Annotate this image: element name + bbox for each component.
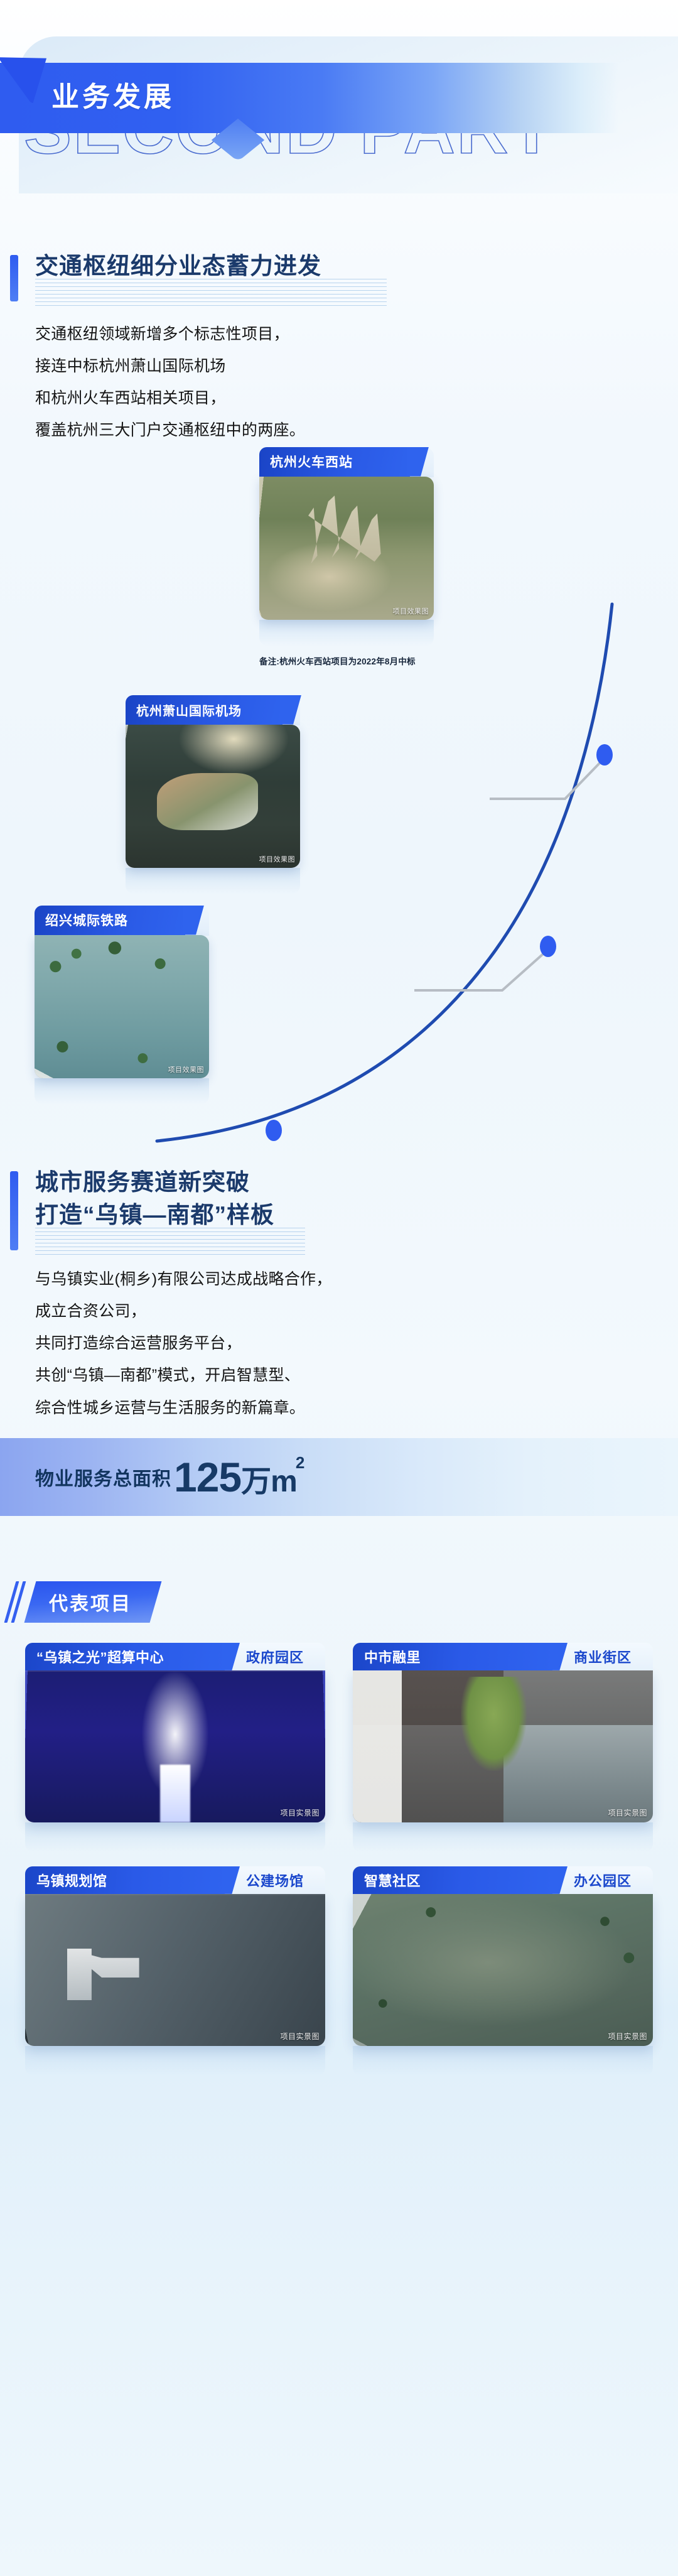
representative-projects-header: 代表项目 [0,1578,678,1626]
card-photo: 项目效果图 [259,477,434,620]
photo-watermark: 项目效果图 [259,854,296,864]
card-ribbon-label: 杭州火车西站 [259,447,410,477]
paragraph-line: 综合性城乡运营与生活服务的新篇章。 [35,1392,653,1424]
section-one-stripes [35,279,387,306]
project-card-shaoxing-railway[interactable]: 绍兴城际铁路 项目效果图 [35,906,209,1105]
grid-card-header: 中市融里 商业街区 [353,1643,653,1670]
grid-card-name: 中市融里 [353,1643,552,1670]
stat-unit-wan: 万 [241,1465,271,1498]
section-two-title-line1: 城市服务赛道新突破 [35,1166,250,1199]
section-two-accent-bar [10,1171,18,1250]
page-header: SECOND PART 业务发展 [0,0,678,207]
section-two-title-line2: 打造“乌镇—南都”样板 [35,1199,274,1232]
grid-card-smart-community[interactable]: 智慧社区 办公园区 项目实景图 [353,1866,653,2076]
card-reflection [35,1078,209,1105]
leader-line-1 [490,758,605,799]
grid-card-photo: 项目实景图 [25,1894,325,2046]
paragraph-line: 共创“乌镇—南都”模式，开启智慧型、 [35,1360,653,1392]
grid-card-supercomputing[interactable]: “乌镇之光”超算中心 政府园区 项目实景图 [25,1643,325,1853]
grid-card-reflection [353,2046,653,2076]
representative-badge: 代表项目 [24,1581,162,1623]
grid-card-header: 智慧社区 办公园区 [353,1866,653,1894]
section-two-heading-block: 城市服务赛道新突破 打造“乌镇—南都”样板 [10,1166,678,1232]
section-one-title: 交通枢纽细分业态蓄力进发 [35,250,321,283]
card-photo: 项目效果图 [35,935,209,1078]
stat-unit-m: m [271,1465,297,1498]
curve-node-1 [596,744,613,766]
paragraph-line: 共同打造综合运营服务平台， [35,1328,653,1360]
grid-card-photo: 项目实景图 [353,1670,653,1822]
section-one-accent-bar [10,255,18,301]
card-ribbon-label: 杭州萧山国际机场 [126,695,282,725]
section-one-paragraph: 交通枢纽领域新增多个标志性项目， 接连中标杭州萧山国际机场 和杭州火车西站相关项… [35,318,653,447]
section-one-heading-block: 交通枢纽细分业态蓄力进发 [10,250,678,283]
project-note: 备注:杭州火车西站项目为2022年8月中标 [259,654,416,667]
grid-card-zhongshi-rongli[interactable]: 中市融里 商业街区 项目实景图 [353,1643,653,1853]
grid-card-tag: 公建场馆 [225,1866,325,1894]
paragraph-line: 成立合资公司， [35,1296,653,1328]
grid-card-name: “乌镇之光”超算中心 [25,1643,225,1670]
grid-card-header: 乌镇规划馆 公建场馆 [25,1866,325,1894]
stat-unit-superscript: 2 [296,1453,304,1472]
representative-badge-label: 代表项目 [49,1588,132,1616]
curve-node-2 [540,936,556,957]
photo-watermark: 项目实景图 [608,2031,647,2042]
grid-card-tag: 商业街区 [552,1643,653,1670]
card-photo: 项目效果图 [126,725,300,868]
grid-card-header: “乌镇之光”超算中心 政府园区 [25,1643,325,1670]
grid-card-name: 智慧社区 [353,1866,552,1894]
stat-label: 物业服务总面积 [35,1463,171,1491]
photo-watermark: 项目实景图 [280,2031,320,2042]
grid-card-wuzhen-planning-hall[interactable]: 乌镇规划馆 公建场馆 项目实景图 [25,1866,325,2076]
grid-card-tag: 政府园区 [225,1643,325,1670]
section-two-paragraph: 与乌镇实业(桐乡)有限公司达成战略合作， 成立合资公司， 共同打造综合运营服务平… [35,1264,653,1424]
grid-card-reflection [353,1822,653,1853]
header-title: 业务发展 [51,74,175,114]
photo-watermark: 项目实景图 [280,1807,320,1818]
photo-watermark: 项目实景图 [608,1807,647,1818]
paragraph-line: 交通枢纽领域新增多个标志性项目， [35,318,653,350]
paragraph-line: 和杭州火车西站相关项目， [35,382,653,414]
growth-curve-section: 杭州火车西站 项目效果图 备注:杭州火车西站项目为2022年8月中标 杭州萧山国… [0,447,678,1270]
stat-value-group: 125万m2 [174,1456,305,1498]
photo-watermark: 项目效果图 [168,1064,205,1074]
paragraph-line: 接连中标杭州萧山国际机场 [35,350,653,382]
paragraph-line: 覆盖杭州三大门户交通枢纽中的两座。 [35,414,653,446]
card-ribbon-label: 绍兴城际铁路 [35,906,185,935]
grid-card-photo: 项目实景图 [353,1894,653,2046]
poster-page: SECOND PART 业务发展 交通枢纽细分业态蓄力进发 交通枢纽领域新增多个… [0,0,678,2576]
curve-node-3 [266,1120,282,1141]
grid-card-reflection [25,1822,325,1853]
grid-card-tag: 办公园区 [552,1866,653,1894]
project-card-xiaoshan-airport[interactable]: 杭州萧山国际机场 项目效果图 [126,695,300,894]
project-card-west-railway[interactable]: 杭州火车西站 项目效果图 [259,447,434,646]
card-reflection [259,620,434,646]
grid-card-photo: 项目实景图 [25,1670,325,1822]
stat-number: 125 [174,1454,241,1500]
representative-projects-grid: “乌镇之光”超算中心 政府园区 项目实景图 中市融里 商业街区 项目实景图 乌镇… [25,1643,653,2076]
grid-card-name: 乌镇规划馆 [25,1866,225,1894]
grid-card-reflection [25,2046,325,2076]
card-reflection [126,868,300,894]
photo-watermark: 项目效果图 [393,606,429,616]
stat-band: 物业服务总面积 125万m2 [0,1438,678,1516]
